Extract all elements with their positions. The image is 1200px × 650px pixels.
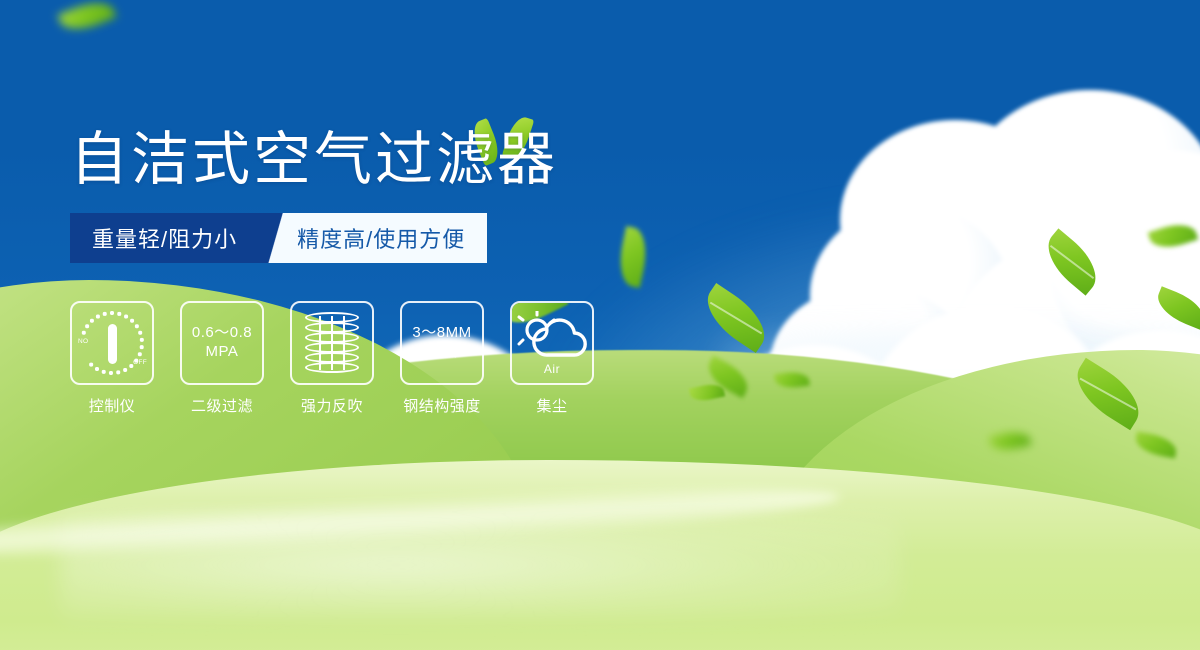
steel-thickness-line1: 3～8MM: [412, 324, 471, 343]
feature-item-dust-collection[interactable]: Air 集尘: [510, 301, 594, 416]
feature-list: NO OFF 控制仪 0.6～0.8 MPA 二级过滤: [70, 301, 710, 416]
page-title: 自洁式空气过滤器: [70, 130, 710, 191]
gauge-label-no: NO: [78, 338, 88, 345]
field-light-sheen: [60, 510, 900, 620]
feature-label: 二级过滤: [180, 395, 264, 416]
feature-label: 强力反吹: [290, 395, 374, 416]
subtitle-diagonal-divider: [263, 213, 289, 263]
feature-icon-box: [290, 301, 374, 385]
subtitle-bar: 重量轻/阻力小 精度高/使用方便: [70, 213, 487, 263]
feature-icon-box: NO OFF: [70, 301, 154, 385]
cloud-sun-glyph: [516, 311, 588, 361]
air-label: Air: [516, 362, 588, 376]
feature-item-steel-strength[interactable]: 3～8MM 钢板 钢结构强度: [400, 301, 484, 416]
feature-item-control-gauge[interactable]: NO OFF 控制仪: [70, 301, 154, 416]
pressure-value-line2: MPA: [192, 343, 252, 362]
feature-item-strong-backblow[interactable]: 强力反吹: [290, 301, 374, 416]
subtitle-left-segment: 重量轻/阻力小: [70, 213, 263, 263]
steel-thickness-line2: 钢板: [412, 343, 471, 362]
gauge-needle: [108, 324, 117, 364]
pressure-value-line1: 0.6～0.8: [192, 324, 252, 343]
feature-label: 钢结构强度: [400, 395, 484, 416]
feature-icon-box: Air: [510, 301, 594, 385]
pressure-text-icon: 0.6～0.8 MPA: [192, 324, 252, 362]
feature-icon-box: 0.6～0.8 MPA: [180, 301, 264, 385]
cloud-air-icon: Air: [516, 311, 588, 375]
filter-cartridge-icon: [305, 312, 359, 374]
product-hero-banner: 自洁式空气过滤器 重量轻/阻力小 精度高/使用方便: [0, 0, 1200, 650]
feature-item-secondary-filter[interactable]: 0.6～0.8 MPA 二级过滤: [180, 301, 264, 416]
steel-plate-text-icon: 3～8MM 钢板: [412, 324, 471, 362]
gauge-dial-icon: NO OFF: [77, 308, 147, 378]
feature-icon-box: 3～8MM 钢板: [400, 301, 484, 385]
feature-label: 集尘: [510, 395, 594, 416]
feature-label: 控制仪: [70, 395, 154, 416]
banner-content: 自洁式空气过滤器 重量轻/阻力小 精度高/使用方便: [70, 130, 710, 416]
subtitle-right-segment: 精度高/使用方便: [289, 213, 487, 263]
gauge-label-off: OFF: [133, 359, 147, 366]
